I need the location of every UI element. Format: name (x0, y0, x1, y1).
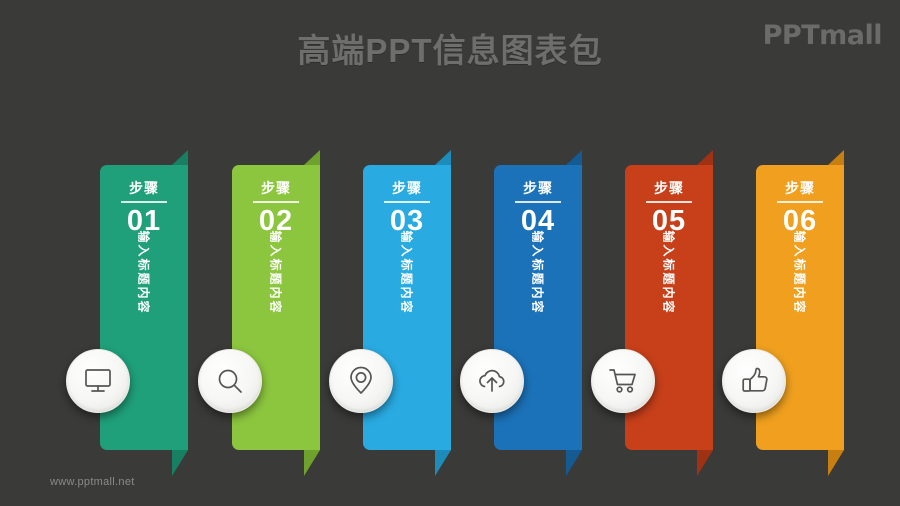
step-divider (253, 201, 299, 203)
step-divider (121, 201, 167, 203)
step-label: 步骤 (625, 181, 713, 196)
thumbs-up-icon (740, 366, 769, 396)
step-body-text: 输入标题内容 (791, 231, 808, 315)
banner-fold-top (304, 150, 320, 165)
step-body-text: 输入标题内容 (267, 231, 284, 315)
cloud-upload-icon (476, 367, 508, 395)
step-body-text: 输入标题内容 (529, 231, 546, 315)
banner-fold-bottom (697, 450, 713, 476)
step-body-text: 输入标题内容 (135, 231, 152, 315)
banner-fold-bottom (828, 450, 844, 476)
banner-fold-bottom (435, 450, 451, 476)
footer-url: www.pptmall.net (50, 476, 135, 488)
banner-fold-top (172, 150, 188, 165)
step-body-text: 输入标题内容 (660, 231, 677, 315)
step-banner-group: 步骤01输入标题内容步骤02输入标题内容步骤03输入标题内容步骤04输入标题内容… (0, 0, 900, 506)
step-label: 步骤 (494, 181, 582, 196)
shopping-cart-icon (608, 367, 639, 395)
step-icon-badge-05[interactable] (591, 349, 655, 413)
monitor-icon (83, 367, 113, 395)
step-divider (515, 201, 561, 203)
step-label: 步骤 (363, 181, 451, 196)
step-label: 步骤 (756, 181, 844, 196)
step-body-text: 输入标题内容 (398, 231, 415, 315)
banner-fold-top (566, 150, 582, 165)
banner-fold-bottom (566, 450, 582, 476)
step-icon-badge-01[interactable] (66, 349, 130, 413)
step-divider (384, 201, 430, 203)
step-icon-badge-06[interactable] (722, 349, 786, 413)
step-label: 步骤 (100, 181, 188, 196)
banner-fold-top (435, 150, 451, 165)
banner-fold-bottom (172, 450, 188, 476)
location-pin-icon (347, 366, 375, 396)
search-icon (215, 366, 245, 396)
step-label: 步骤 (232, 181, 320, 196)
step-icon-badge-02[interactable] (198, 349, 262, 413)
step-divider (777, 201, 823, 203)
step-icon-badge-03[interactable] (329, 349, 393, 413)
banner-fold-top (697, 150, 713, 165)
step-divider (646, 201, 692, 203)
banner-fold-top (828, 150, 844, 165)
banner-fold-bottom (304, 450, 320, 476)
step-icon-badge-04[interactable] (460, 349, 524, 413)
